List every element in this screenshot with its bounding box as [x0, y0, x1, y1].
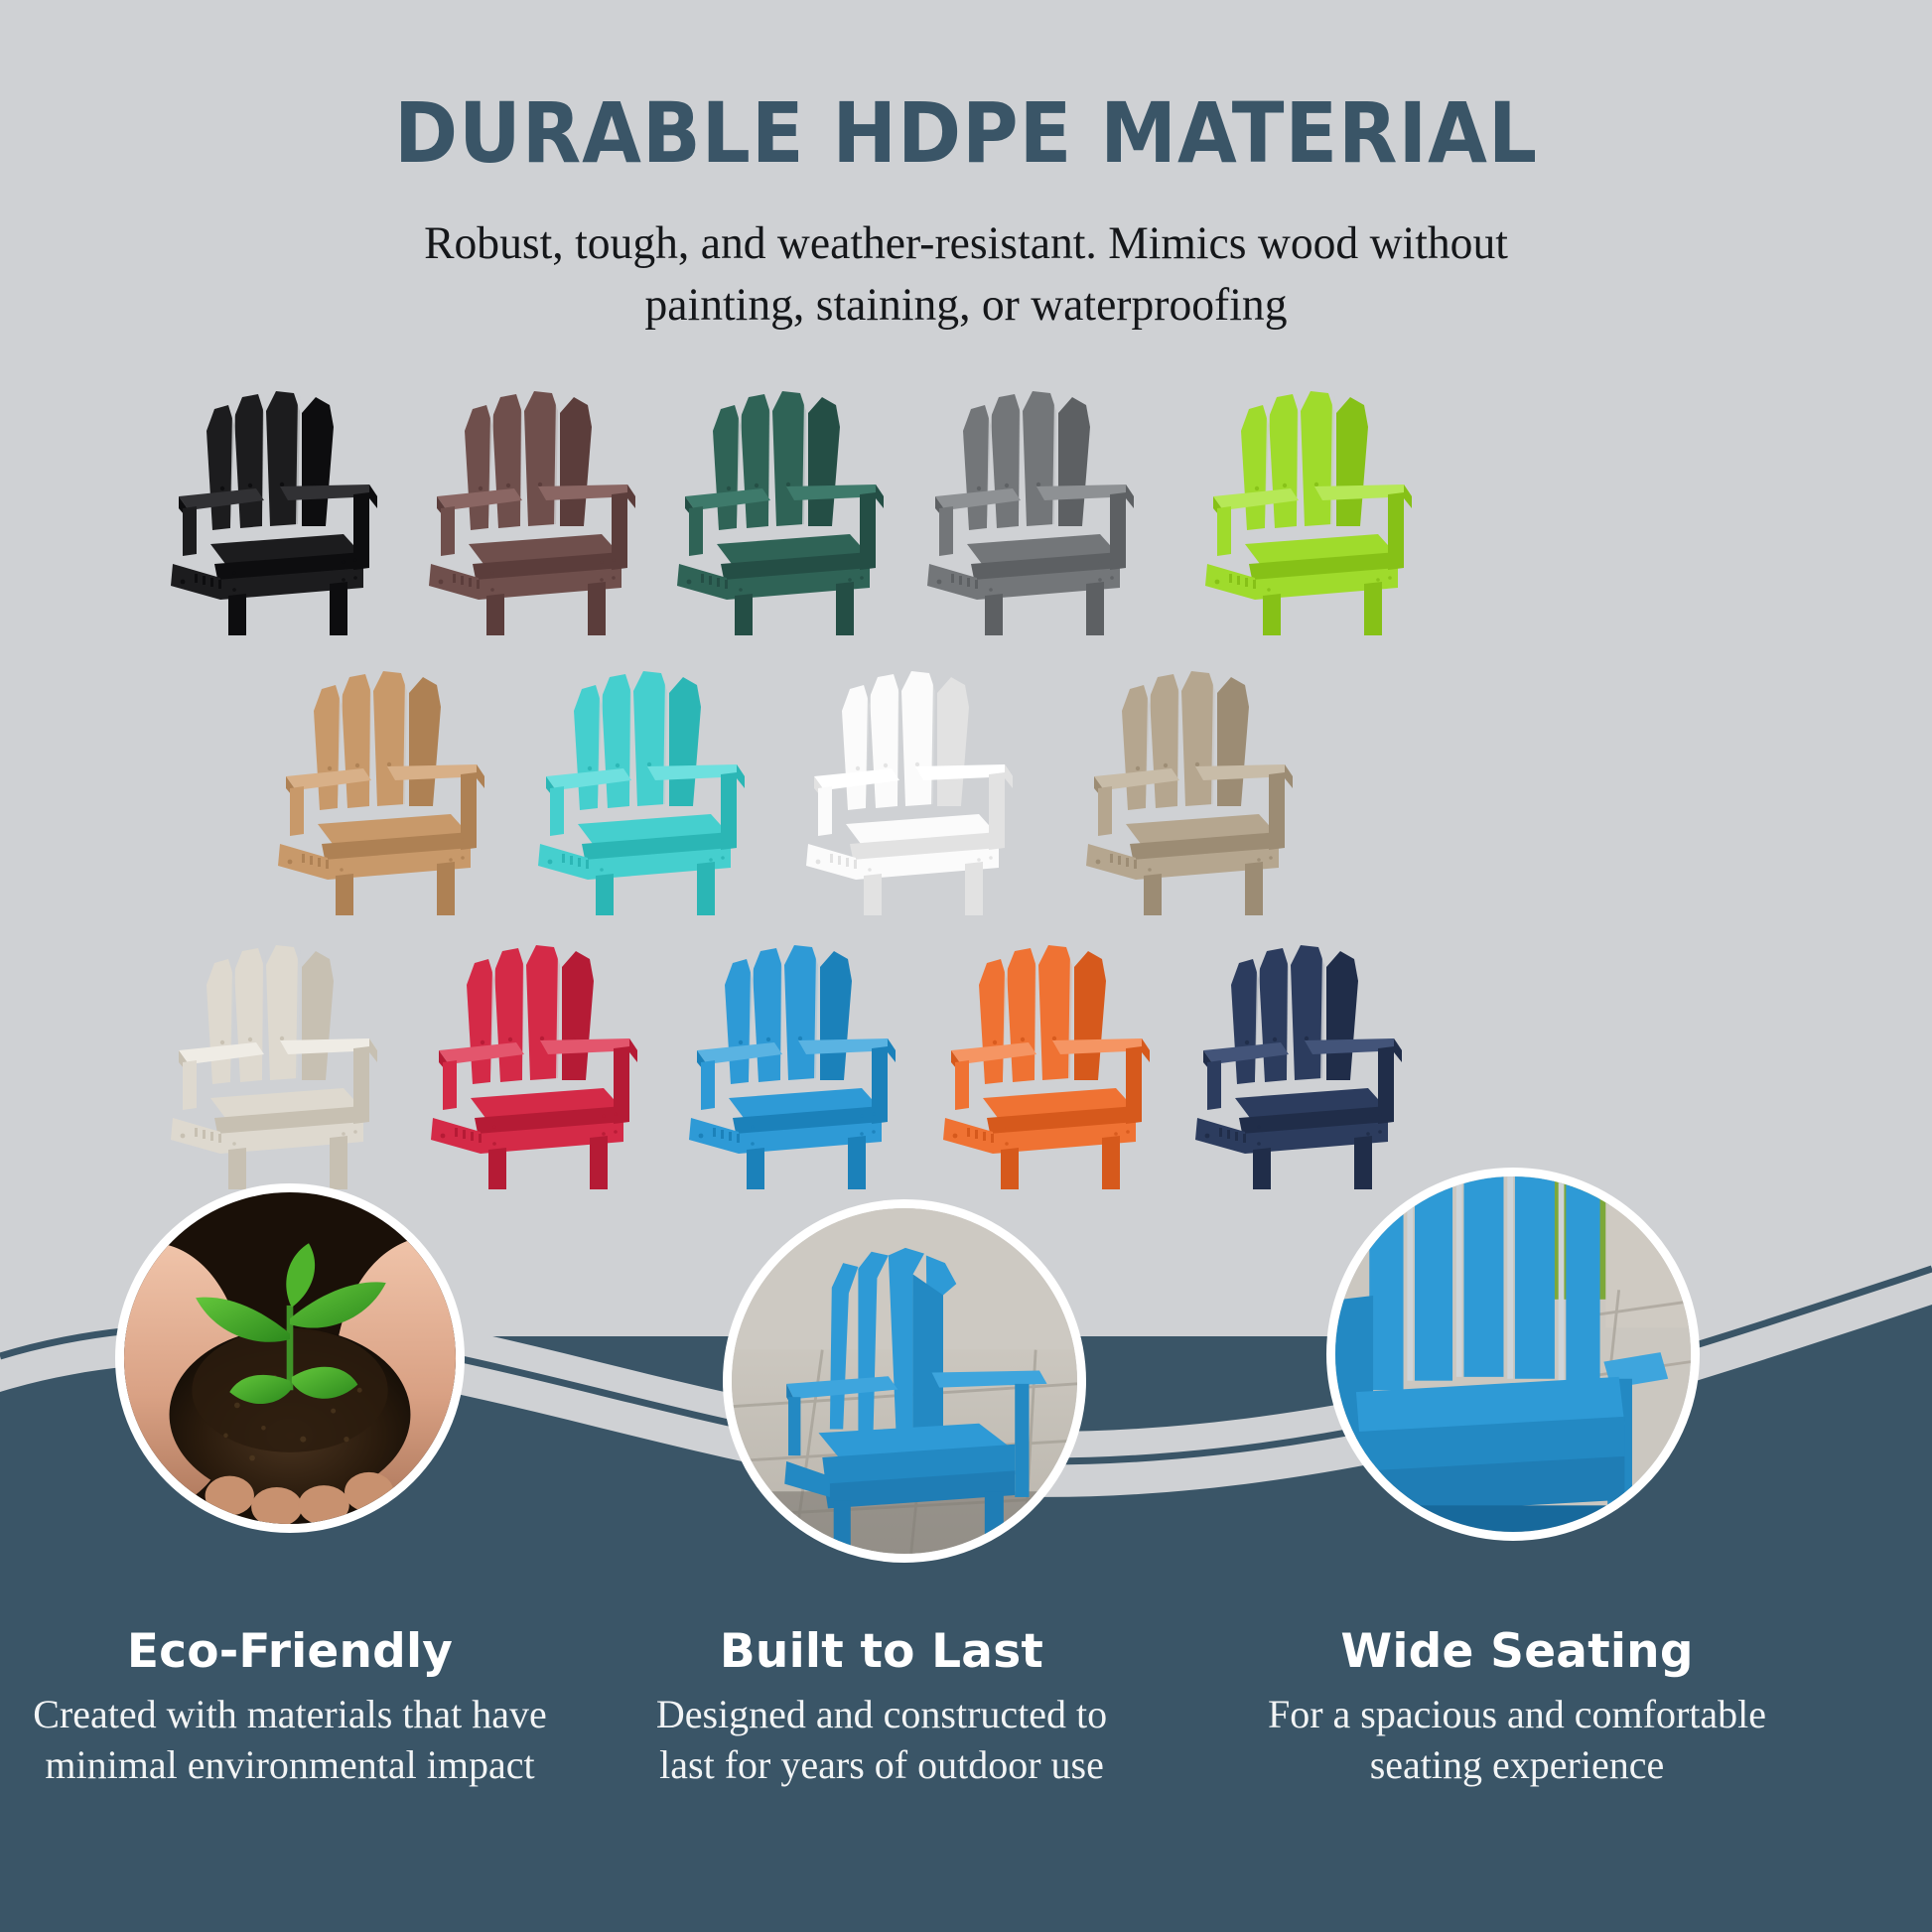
feature-body-wide-seating-line2: seating experience [1219, 1739, 1815, 1790]
chair-swatch-ivory[interactable] [149, 923, 397, 1189]
chair-swatch-taupe[interactable] [1064, 649, 1312, 915]
chair-swatch-dark-green[interactable] [655, 369, 903, 635]
chair-swatch-red[interactable] [409, 923, 657, 1189]
feature-body-built-to-last-line1: Designed and constructed to [584, 1689, 1179, 1739]
header-block: DURABLE HDPE MATERIAL Robust, tough, and… [0, 91, 1932, 336]
blue-chair-closeup-icon [1335, 1176, 1691, 1532]
feature-body-built-to-last-line2: last for years of outdoor use [584, 1739, 1179, 1790]
chair-swatch-teak[interactable] [256, 649, 504, 915]
feature-caption-wide-seating: Wide Seating For a spacious and comforta… [1219, 1624, 1815, 1790]
chair-swatch-white[interactable] [784, 649, 1033, 915]
page-title: DURABLE HDPE MATERIAL [77, 91, 1855, 175]
feature-caption-eco-friendly: Eco-Friendly Created with materials that… [0, 1624, 588, 1790]
chair-swatch-turquoise[interactable] [516, 649, 764, 915]
subtitle-line-2: painting, staining, or waterproofing [422, 274, 1510, 336]
chair-swatch-black[interactable] [149, 369, 397, 635]
chair-swatch-gray[interactable] [905, 369, 1154, 635]
feature-photo-built-to-last [723, 1199, 1086, 1563]
feature-body-wide-seating-line1: For a spacious and comfortable [1219, 1689, 1815, 1739]
chair-swatch-orange[interactable] [921, 923, 1170, 1189]
feature-title-wide-seating: Wide Seating [1219, 1624, 1815, 1679]
subtitle-line-1: Robust, tough, and weather-resistant. Mi… [422, 212, 1510, 274]
feature-caption-built-to-last: Built to Last Designed and constructed t… [584, 1624, 1179, 1790]
feature-photo-eco-friendly [115, 1183, 465, 1533]
seedling-in-hands-icon [124, 1192, 456, 1524]
page-subtitle: Robust, tough, and weather-resistant. Mi… [422, 212, 1510, 336]
feature-title-eco-friendly: Eco-Friendly [0, 1624, 588, 1679]
chair-swatch-lime[interactable] [1183, 369, 1432, 635]
feature-body-eco-friendly-line1: Created with materials that have [0, 1689, 588, 1739]
infographic-root: DURABLE HDPE MATERIAL Robust, tough, and… [0, 0, 1932, 1932]
blue-chair-patio-icon [732, 1208, 1077, 1554]
feature-title-built-to-last: Built to Last [584, 1624, 1179, 1679]
chair-swatch-light-blue[interactable] [667, 923, 915, 1189]
feature-photo-wide-seating [1326, 1168, 1700, 1541]
chair-swatch-brown[interactable] [407, 369, 655, 635]
feature-body-eco-friendly-line2: minimal environmental impact [0, 1739, 588, 1790]
chair-swatch-navy-blue[interactable] [1173, 923, 1422, 1189]
